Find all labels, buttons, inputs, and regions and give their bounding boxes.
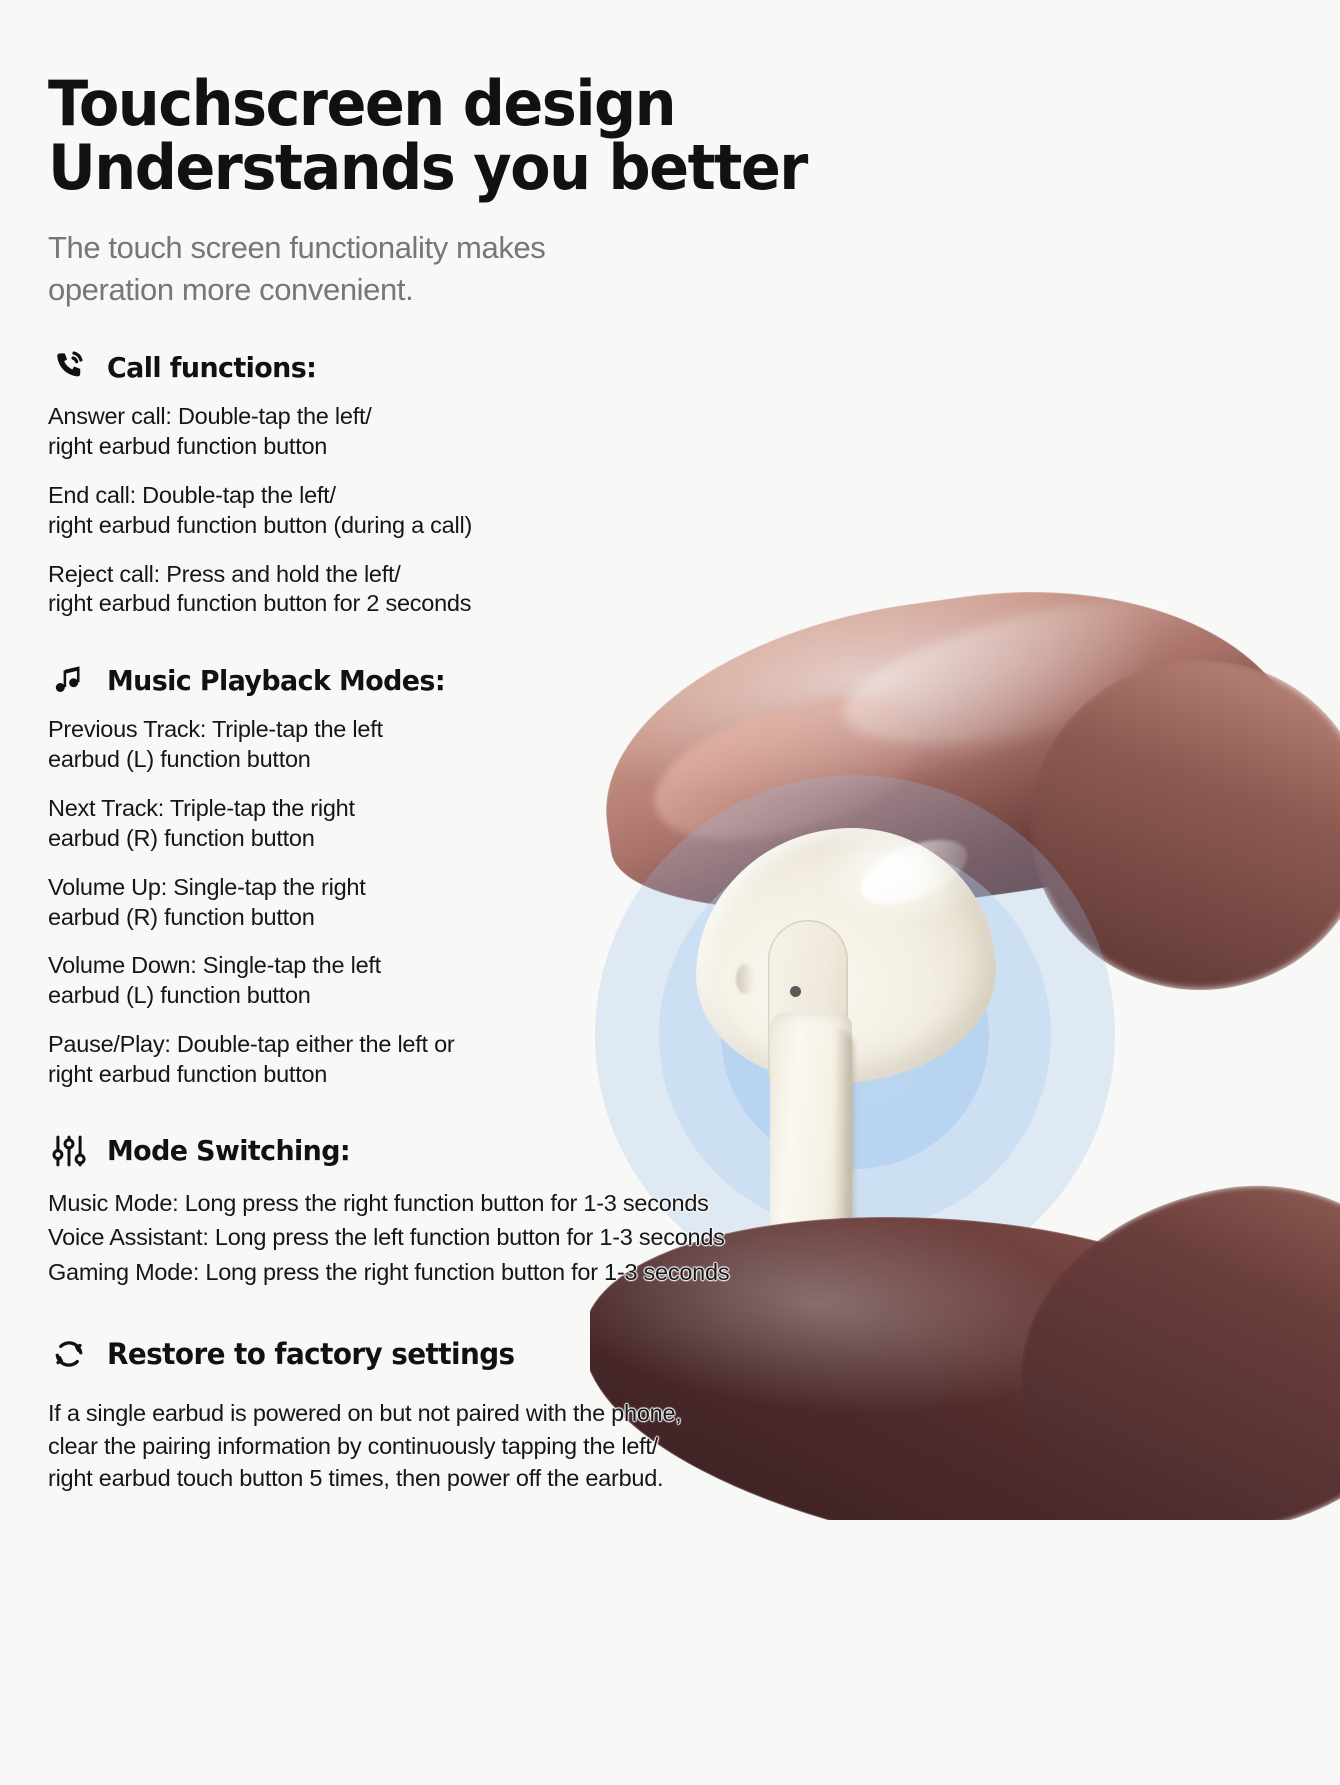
music-next-line-1: Next Track: Triple-tap the right [48, 795, 355, 821]
restore-line-2: clear the pairing information by continu… [48, 1430, 1008, 1462]
music-item-previous-track: Previous Track: Triple-tap the left earb… [48, 715, 1008, 775]
page-title: Touchscreen design Understands you bette… [48, 72, 932, 201]
mode-switching-list: Music Mode: Long press the right functio… [48, 1186, 1008, 1290]
page-subtitle: The touch screen functionality makes ope… [48, 227, 748, 311]
music-volup-line-1: Volume Up: Single-tap the right [48, 874, 366, 900]
restore-paragraph: If a single earbud is powered on but not… [48, 1397, 1008, 1494]
music-volup-line-2: earbud (R) function button [48, 903, 1008, 933]
section-heading-music-playback: Music Playback Modes: [48, 659, 1008, 701]
subtitle-line-1: The touch screen functionality makes [48, 230, 545, 265]
section-title-call-functions: Call functions: [107, 351, 316, 384]
restore-line-1: If a single earbud is powered on but not… [48, 1400, 682, 1426]
section-title-mode-switching: Mode Switching: [107, 1134, 350, 1167]
music-note-icon [48, 659, 90, 701]
music-item-pause-play: Pause/Play: Double-tap either the left o… [48, 1030, 1008, 1090]
mode-line-voice-assistant: Voice Assistant: Long press the left fun… [48, 1220, 1008, 1255]
music-prev-line-2: earbud (L) function button [48, 745, 1008, 775]
finger-upper-right [1030, 660, 1340, 990]
call-item-answer: Answer call: Double-tap the left/ right … [48, 402, 1008, 462]
call-item-end: End call: Double-tap the left/ right ear… [48, 481, 1008, 541]
music-item-volume-down: Volume Down: Single-tap the left earbud … [48, 951, 1008, 1011]
section-heading-mode-switching: Mode Switching: [48, 1130, 1008, 1172]
section-title-music-playback: Music Playback Modes: [107, 664, 445, 697]
section-heading-call-functions: Call functions: [48, 346, 1008, 388]
music-next-line-2: earbud (R) function button [48, 824, 1008, 854]
call-answer-line-2: right earbud function button [48, 432, 1008, 462]
call-end-line-1: End call: Double-tap the left/ [48, 482, 336, 508]
call-reject-line-2: right earbud function button for 2 secon… [48, 589, 1008, 619]
subtitle-line-2: operation more convenient. [48, 269, 748, 311]
content-column: Touchscreen design Understands you bette… [48, 72, 1008, 1495]
call-reject-line-1: Reject call: Press and hold the left/ [48, 561, 401, 587]
section-heading-restore-factory: Restore to factory settings [48, 1333, 1008, 1375]
mode-line-music: Music Mode: Long press the right functio… [48, 1186, 1008, 1221]
section-title-restore-factory: Restore to factory settings [107, 1337, 515, 1371]
music-voldown-line-1: Volume Down: Single-tap the left [48, 952, 381, 978]
music-voldown-line-2: earbud (L) function button [48, 981, 1008, 1011]
music-item-volume-up: Volume Up: Single-tap the right earbud (… [48, 873, 1008, 933]
infographic-page: Touchscreen design Understands you bette… [0, 0, 1340, 1785]
call-item-reject: Reject call: Press and hold the left/ ri… [48, 560, 1008, 620]
sliders-icon [48, 1130, 90, 1172]
phone-call-icon [48, 346, 90, 388]
headline-line-2: Understands you better [48, 136, 932, 200]
music-pauseplay-line-1: Pause/Play: Double-tap either the left o… [48, 1031, 454, 1057]
finger-bottom-right [994, 1156, 1340, 1520]
music-prev-line-1: Previous Track: Triple-tap the left [48, 716, 383, 742]
refresh-cycle-icon [48, 1333, 90, 1375]
headline-line-1: Touchscreen design [48, 67, 675, 140]
call-answer-line-1: Answer call: Double-tap the left/ [48, 403, 372, 429]
restore-line-3: right earbud touch button 5 times, then … [48, 1462, 1008, 1494]
call-end-line-2: right earbud function button (during a c… [48, 511, 1008, 541]
mode-line-gaming: Gaming Mode: Long press the right functi… [48, 1255, 1008, 1290]
music-pauseplay-line-2: right earbud function button [48, 1060, 1008, 1090]
music-item-next-track: Next Track: Triple-tap the right earbud … [48, 794, 1008, 854]
